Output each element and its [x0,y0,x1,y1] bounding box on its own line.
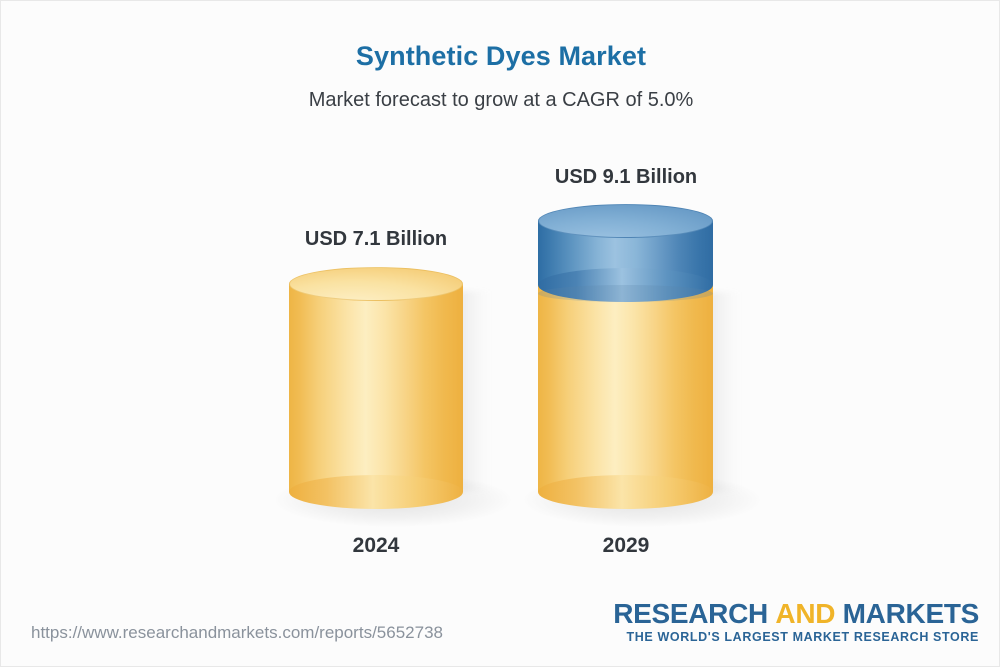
logo-word-research: RESEARCH [613,598,768,629]
segment-bottom-cap [289,475,463,509]
bar-value-label-2024: USD 7.1 Billion [276,228,476,251]
logo-wordmark: RESEARCH AND MARKETS [613,599,979,628]
bar-category-label-2024: 2024 [276,534,476,558]
segment-seam [538,285,713,302]
segment-body [289,284,463,492]
logo-tagline: THE WORLD'S LARGEST MARKET RESEARCH STOR… [613,630,979,645]
bar-segment-2024-base [289,267,463,509]
bar-value-label-2029: USD 9.1 Billion [526,166,726,189]
segment-body [538,285,713,492]
bar-segment-2029-base [538,268,713,509]
segment-top-cap [538,204,713,238]
segment-top-cap [289,267,463,301]
plot-area: USD 7.1 Billion 2024 USD 9.1 Billion [1,1,1000,667]
logo-word-and: AND [775,598,835,629]
research-and-markets-logo[interactable]: RESEARCH AND MARKETS THE WORLD'S LARGEST… [613,599,979,645]
bar-group-2029 [538,204,713,509]
report-url-link[interactable]: https://www.researchandmarkets.com/repor… [31,623,443,643]
bar-group-2024 [289,267,463,509]
bar-category-label-2029: 2029 [526,534,726,558]
segment-bottom-cap [538,475,713,509]
chart-canvas: Synthetic Dyes Market Market forecast to… [0,0,1000,667]
logo-word-markets: MARKETS [843,598,979,629]
